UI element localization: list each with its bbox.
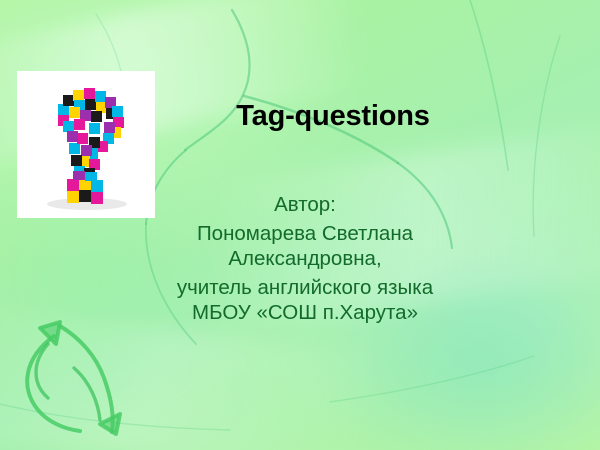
author-name: Пономарева Светлана Александровна, <box>140 221 470 271</box>
author-label: Автор: <box>140 192 470 217</box>
presentation-slide: Tag-questions Автор: Пономарева Светлана… <box>0 0 600 450</box>
question-mark-image <box>17 71 155 218</box>
author-name-line: Пономарева Светлана <box>140 221 470 246</box>
author-label-line: Автор: <box>140 192 470 217</box>
double-curved-arrow-icon <box>4 292 148 437</box>
question-mark-icon <box>17 71 155 218</box>
author-position: учитель английского языка МБОУ «СОШ п.Ха… <box>140 275 470 325</box>
background-sheen-band <box>0 308 386 450</box>
author-name-line: Александровна, <box>140 246 470 271</box>
author-info: Автор: Пономарева Светлана Александровна… <box>140 192 470 325</box>
author-position-line: учитель английского языка <box>140 275 470 300</box>
author-position-line: МБОУ «СОШ п.Харута» <box>140 300 470 325</box>
page-title: Tag-questions <box>168 100 498 133</box>
